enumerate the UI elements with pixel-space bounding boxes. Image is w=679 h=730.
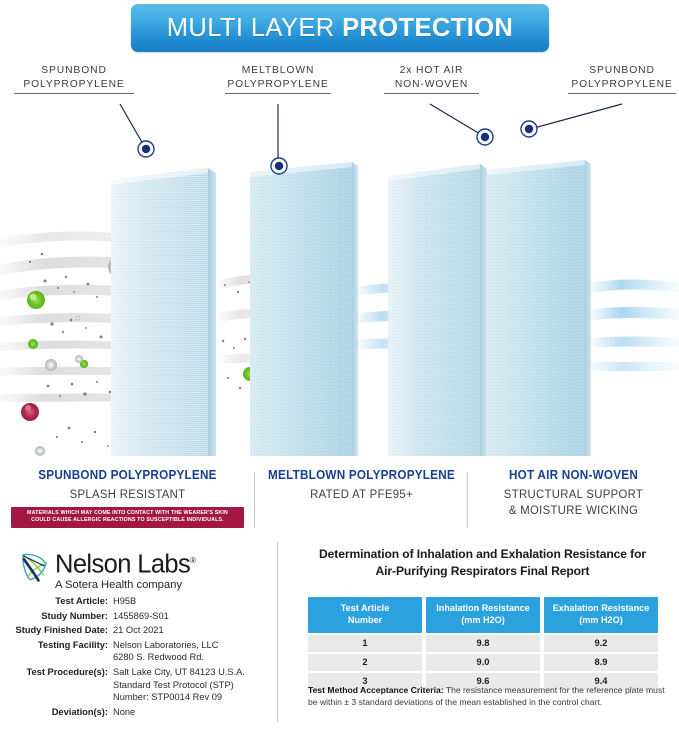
allergy-warning-box: MATERIALS WHICH MAY COME INTO CONTACT WI… xyxy=(11,507,244,528)
study-detail-row: Test Procedure(s):Salt Lake City, UT 841… xyxy=(0,666,277,704)
warning-line-1: MATERIALS WHICH MAY COME INTO CONTACT WI… xyxy=(14,510,241,517)
study-detail-label: Test Procedure(s): xyxy=(0,666,113,704)
table-column-header: Exhalation Resistance(mm H2O) xyxy=(544,597,658,633)
study-detail-value: Nelson Laboratories, LLC6280 S. Redwood … xyxy=(113,639,218,664)
study-detail-row: Study Number:1455869-S01 xyxy=(0,610,277,623)
table-cell: 9.8 xyxy=(426,635,540,652)
report-title-line-2: Air-Purifying Respirators Final Report xyxy=(286,563,679,580)
callout-rule xyxy=(568,93,676,94)
table-column-header: Inhalation Resistance(mm H2O) xyxy=(426,597,540,633)
callout-spunbond-right: SPUNBOND POLYPROPYLENE xyxy=(568,64,676,94)
study-detail-value-line: 6280 S. Redwood Rd. xyxy=(113,651,218,664)
callout-line-1: 2x HOT AIR xyxy=(384,64,479,78)
study-detail-value-line: Standard Test Protocol (STP) xyxy=(113,679,245,692)
table-row: 19.89.2 xyxy=(308,635,658,652)
callout-line-1: MELTBLOWN xyxy=(225,64,331,78)
feature-meltblown: MELTBLOWN POLYPROPYLENE RATED AT PFE95+ xyxy=(255,468,468,502)
layer-4-spunbond xyxy=(487,160,591,456)
mask-layer-illustration: SPUNBOND POLYPROPYLENE MELTBLOWN POLYPRO… xyxy=(0,56,679,456)
table-header-row: Test ArticleNumberInhalation Resistance(… xyxy=(308,597,658,633)
nelson-labs-tagline: A Sotera Health company xyxy=(55,579,196,592)
study-detail-row: Deviation(s):None xyxy=(0,706,277,719)
study-detail-value: Salt Lake City, UT 84123 U.S.A.Standard … xyxy=(113,666,245,704)
layer-1-spunbond xyxy=(111,168,216,456)
feature-columns: SPUNBOND POLYPROPYLENE SPLASH RESISTANT … xyxy=(0,462,679,534)
study-detail-label: Study Number: xyxy=(0,610,113,623)
infographic-page: MULTI LAYER PROTECTION xyxy=(0,0,679,730)
study-detail-value: None xyxy=(113,706,135,719)
acceptance-criteria: Test Method Acceptance Criteria: The res… xyxy=(308,684,665,708)
feature-hot-air: HOT AIR NON-WOVEN STRUCTURAL SUPPORT & M… xyxy=(468,468,679,518)
study-detail-value-line: Number: STP0014 Rev 09 xyxy=(113,691,245,704)
layers-svg xyxy=(0,56,679,456)
feature-title: HOT AIR NON-WOVEN xyxy=(475,468,671,483)
study-detail-value-line: 21 Oct 2021 xyxy=(113,624,164,637)
feature-subtitle: RATED AT PFE95+ xyxy=(262,486,460,502)
registered-mark: ® xyxy=(190,556,196,565)
study-detail-row: Study Finished Date:21 Oct 2021 xyxy=(0,624,277,637)
study-detail-label: Test Article: xyxy=(0,595,113,608)
layer-3-hot-air-nonwoven xyxy=(388,164,487,456)
table-column-header-line-2: (mm H2O) xyxy=(428,615,538,627)
table-column-header-line-1: Test Article xyxy=(310,603,420,615)
nelson-labs-shield-icon xyxy=(18,549,52,583)
study-detail-value: H95B xyxy=(113,595,136,608)
callout-rule xyxy=(384,93,479,94)
banner-title-bold: PROTECTION xyxy=(342,14,513,42)
feature-title: MELTBLOWN POLYPROPYLENE xyxy=(262,468,460,483)
callout-line-1: SPUNBOND xyxy=(568,64,676,78)
study-detail-row: Test Article:H95B xyxy=(0,595,277,608)
acceptance-criteria-label: Test Method Acceptance Criteria: xyxy=(308,685,444,695)
header-banner: MULTI LAYER PROTECTION xyxy=(131,4,549,52)
study-detail-label: Deviation(s): xyxy=(0,706,113,719)
callout-line-1: SPUNBOND xyxy=(14,64,134,78)
nelson-labs-logo: Nelson Labs® A Sotera Health company xyxy=(18,548,196,592)
table-cell: 9.2 xyxy=(544,635,658,652)
table-row: 29.08.9 xyxy=(308,654,658,671)
study-detail-value-line: Nelson Laboratories, LLC xyxy=(113,639,218,652)
feature-subtitle-2: & MOISTURE WICKING xyxy=(475,502,671,518)
banner-title: MULTI LAYER PROTECTION xyxy=(167,14,514,43)
report-title-line-1: Determination of Inhalation and Exhalati… xyxy=(286,546,679,563)
study-details-list: Test Article:H95BStudy Number:1455869-S0… xyxy=(0,595,277,720)
callout-line-2: NON-WOVEN xyxy=(384,78,479,92)
table-column-header-line-1: Inhalation Resistance xyxy=(428,603,538,615)
callout-meltblown: MELTBLOWN POLYPROPYLENE xyxy=(225,64,331,94)
resistance-report-panel: Determination of Inhalation and Exhalati… xyxy=(286,538,679,730)
callout-line-2: POLYPROPYLENE xyxy=(568,78,676,92)
callout-hot-air: 2x HOT AIR NON-WOVEN xyxy=(384,64,479,94)
clean-airflow-out xyxy=(585,280,679,372)
layer-2-meltblown xyxy=(250,162,358,456)
header-banner-area: MULTI LAYER PROTECTION xyxy=(0,4,679,56)
study-detail-row: Testing Facility:Nelson Laboratories, LL… xyxy=(0,639,277,664)
nelson-labs-wordmark: Nelson Labs® A Sotera Health company xyxy=(55,548,196,592)
table-column-header-line-1: Exhalation Resistance xyxy=(546,603,656,615)
report-title: Determination of Inhalation and Exhalati… xyxy=(286,546,679,579)
nelson-labs-name: Nelson Labs® xyxy=(55,548,196,578)
feature-subtitle: STRUCTURAL SUPPORT xyxy=(475,486,671,502)
table-cell: 9.0 xyxy=(426,654,540,671)
feature-subtitle: SPLASH RESISTANT xyxy=(9,486,246,502)
callout-line-2: POLYPROPYLENE xyxy=(225,78,331,92)
report-divider xyxy=(277,542,278,722)
feature-spunbond: SPUNBOND POLYPROPYLENE SPLASH RESISTANT … xyxy=(0,468,255,528)
callout-rule xyxy=(225,93,331,94)
callout-connectors xyxy=(120,104,622,160)
table-column-header-line-2: Number xyxy=(310,615,420,627)
study-detail-value-line: None xyxy=(113,706,135,719)
feature-title: SPUNBOND POLYPROPYLENE xyxy=(9,468,246,483)
table-cell: 2 xyxy=(308,654,422,671)
study-detail-value-line: H95B xyxy=(113,595,136,608)
study-detail-value: 1455869-S01 xyxy=(113,610,169,623)
study-detail-value-line: 1455869-S01 xyxy=(113,610,169,623)
study-detail-value: 21 Oct 2021 xyxy=(113,624,164,637)
warning-line-2: COULD CAUSE ALLERGIC REACTIONS TO SUSCEP… xyxy=(14,517,241,524)
banner-title-light: MULTI LAYER xyxy=(167,14,335,42)
callout-line-2: POLYPROPYLENE xyxy=(14,78,134,92)
table-cell: 1 xyxy=(308,635,422,652)
study-detail-label: Study Finished Date: xyxy=(0,624,113,637)
study-detail-value-line: Salt Lake City, UT 84123 U.S.A. xyxy=(113,666,245,679)
table-column-header: Test ArticleNumber xyxy=(308,597,422,633)
resistance-table: Test ArticleNumberInhalation Resistance(… xyxy=(308,597,658,690)
report-section: Nelson Labs® A Sotera Health company Tes… xyxy=(0,538,679,730)
study-detail-label: Testing Facility: xyxy=(0,639,113,664)
callout-rule xyxy=(14,93,134,94)
table-column-header-line-2: (mm H2O) xyxy=(546,615,656,627)
table-cell: 8.9 xyxy=(544,654,658,671)
callout-spunbond-left: SPUNBOND POLYPROPYLENE xyxy=(14,64,134,94)
nelson-labs-panel: Nelson Labs® A Sotera Health company Tes… xyxy=(0,538,277,730)
table-body: 19.89.229.08.939.69.4 xyxy=(308,635,658,690)
